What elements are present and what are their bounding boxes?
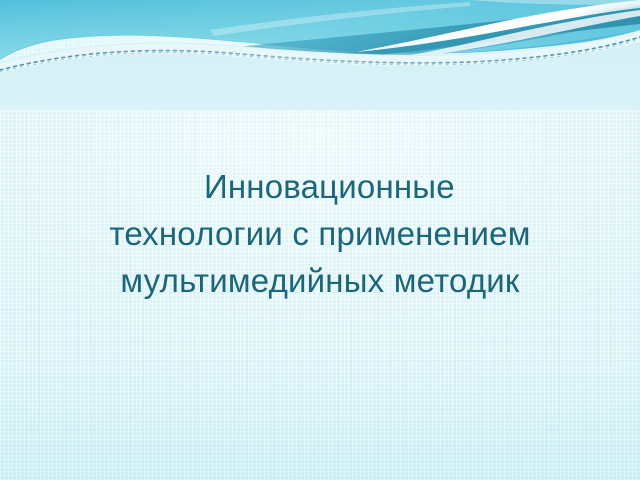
title-line-1: Инновационные xyxy=(26,163,614,210)
wave-banner xyxy=(0,0,640,110)
presentation-slide: Инновационные технологии с применением м… xyxy=(0,0,640,480)
title-line-2: технологии с применением xyxy=(26,210,614,257)
slide-title: Инновационные технологии с применением м… xyxy=(26,163,614,304)
title-line-3: мультимедийных методик xyxy=(26,257,614,304)
